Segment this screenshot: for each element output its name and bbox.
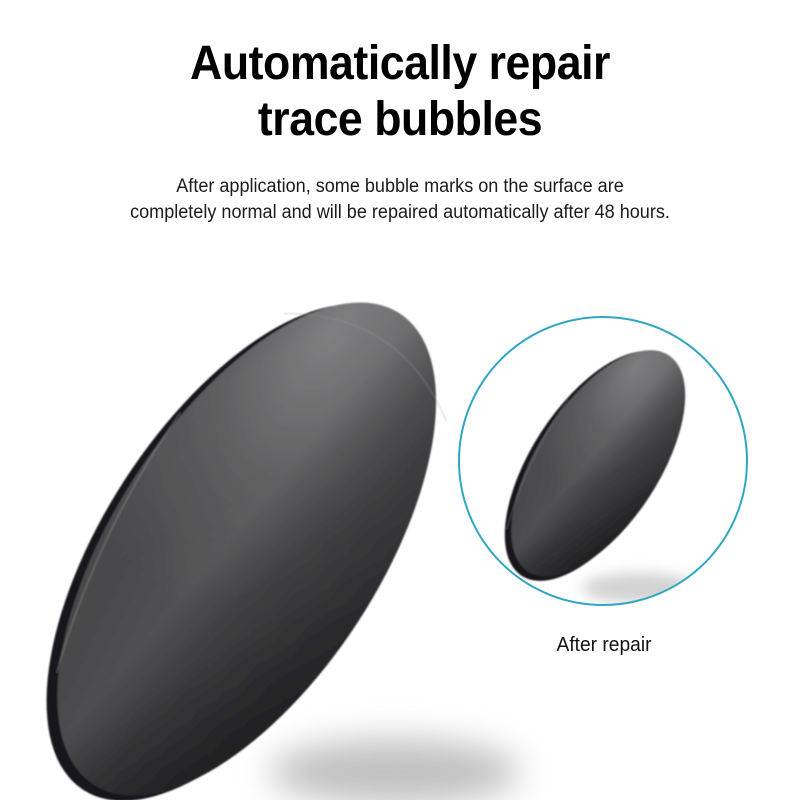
mouse-surface-sheen: [0, 241, 511, 800]
inset-mouse-nose-highlight: [477, 322, 720, 605]
inset-mouse-left-rim-light: [490, 399, 584, 529]
highlight-circle-ring: [459, 317, 747, 605]
text-block: Automatically repair trace bubbles After…: [0, 0, 800, 226]
mouse-base-seam: [0, 242, 504, 800]
after-repair-inset: [459, 317, 747, 611]
inset-mouse-surface-sheen: [477, 322, 720, 605]
wireless-mouse-main-image: [0, 237, 520, 800]
page-subtitle-line-2: completely normal and will be repaired a…: [20, 200, 780, 226]
after-repair-caption: After repair: [464, 632, 744, 658]
mouse-top-rim-light: [283, 287, 465, 421]
page-title: Automatically repair trace bubbles: [28, 36, 772, 148]
page-subtitle: After application, some bubble marks on …: [20, 148, 780, 226]
mouse-left-rim-light: [24, 413, 212, 673]
inset-mouse-top-shell: [477, 322, 720, 605]
page-title-line-1: Automatically repair: [28, 36, 772, 92]
inset-mouse-base-seam: [470, 322, 717, 609]
mouse-nose-highlight: [0, 241, 511, 800]
mouse-top-shell: [0, 241, 511, 800]
inset-mouse-flank-shading: [477, 322, 720, 605]
page-subtitle-line-1: After application, some bubble marks on …: [20, 174, 780, 200]
page-title-line-2: trace bubbles: [28, 92, 772, 148]
mouse-flank-shading: [0, 241, 511, 800]
mouse-drop-shadow: [270, 739, 520, 800]
product-feature-page: Automatically repair trace bubbles After…: [0, 0, 800, 800]
inset-mouse-drop-shadow: [582, 573, 698, 603]
